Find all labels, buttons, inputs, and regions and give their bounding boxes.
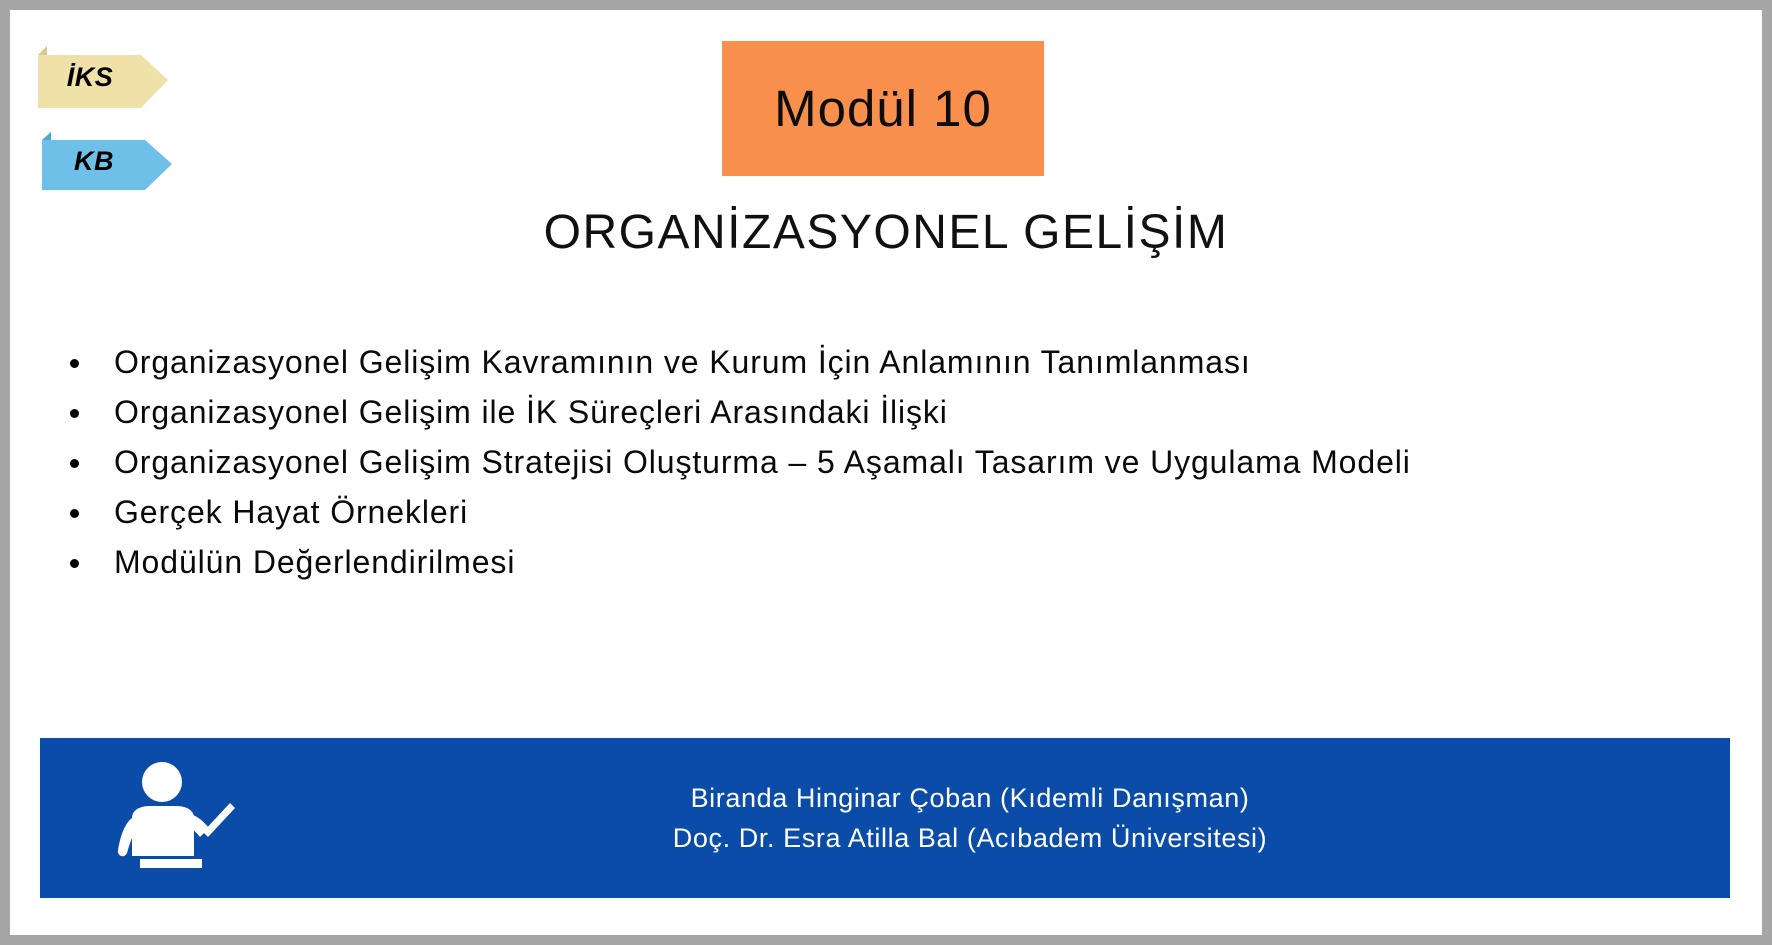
tag-kb-label: KB [42,132,172,190]
tag-iks: İKS [38,46,168,108]
footer-credit-line: Doç. Dr. Esra Atilla Bal (Acıbadem Ünive… [270,818,1670,858]
list-item: Organizasyonel Gelişim Kavramının ve Kur… [56,345,1722,379]
tag-iks-label: İKS [38,46,168,108]
list-item: Modülün Değerlendirilmesi [56,545,1722,579]
footer-credit-line: Biranda Hinginar Çoban (Kıdemli Danışman… [270,778,1670,818]
slide-canvas: İKS KB Modül 10 ORGANİZASYONEL GELİŞİM O… [10,10,1762,935]
list-item: Organizasyonel Gelişim ile İK Süreçleri … [56,395,1722,429]
topic-bullet-list: Organizasyonel Gelişim Kavramının ve Kur… [56,345,1722,595]
page-title: ORGANİZASYONEL GELİŞİM [10,205,1762,260]
list-item: Organizasyonel Gelişim Stratejisi Oluştu… [56,445,1722,479]
list-item: Gerçek Hayat Örnekleri [56,495,1722,529]
tag-kb: KB [42,132,172,190]
module-badge-label: Modül 10 [774,79,992,138]
module-badge: Modül 10 [722,41,1044,176]
teacher-pointer-icon [110,760,238,878]
footer-bar: Biranda Hinginar Çoban (Kıdemli Danışman… [40,738,1730,898]
footer-credits: Biranda Hinginar Çoban (Kıdemli Danışman… [270,778,1670,858]
